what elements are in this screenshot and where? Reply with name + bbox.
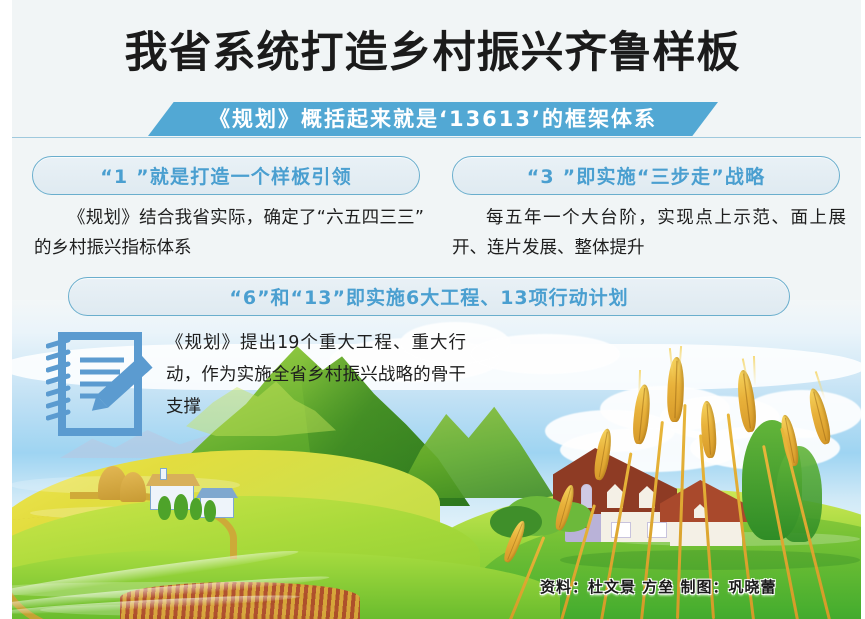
- section-heading-label: “6”和“13”即实施6大工程、13项行动计划: [229, 283, 628, 310]
- section-heading-label: “1 ”就是打造一个样板引领: [100, 162, 352, 189]
- subtitle-banner-label: 《规划》概括起来就是‘13613’的框架体系: [209, 102, 657, 136]
- page-title: 我省系统打造乡村振兴齐鲁样板: [0, 24, 865, 82]
- header-divider: [12, 137, 861, 138]
- section-body-one: 《规划》结合我省实际，确定了“六五四三三”的乡村振兴指标体系: [34, 203, 424, 263]
- section-body-six-thirteen: 《规划》提出19个重大工程、重大行动，作为实施全省乡村振兴战略的骨干支撑: [166, 327, 466, 423]
- subtitle-banner: 《规划》概括起来就是‘13613’的框架体系: [148, 102, 718, 136]
- section-heading-pill-three[interactable]: “3 ”即实施“三步走”战略: [452, 156, 840, 195]
- left-margin: [0, 0, 12, 619]
- right-margin: [861, 0, 865, 619]
- section-body-three: 每五年一个大台阶，实现点上示范、面上展开、连片发展、整体提升: [452, 203, 846, 263]
- section-heading-label: “3 ”即实施“三步走”战略: [527, 162, 766, 189]
- notepad-pencil-icon: [46, 330, 158, 440]
- section-heading-pill-one[interactable]: “1 ”就是打造一个样板引领: [32, 156, 420, 195]
- section-heading-pill-six-thirteen[interactable]: “6”和“13”即实施6大工程、13项行动计划: [68, 277, 790, 316]
- credits-line: 资料：杜文景 方垒 制图：巩晓蕾: [540, 576, 776, 597]
- infographic-poster: 我省系统打造乡村振兴齐鲁样板 《规划》概括起来就是‘13613’的框架体系 “1…: [0, 0, 865, 619]
